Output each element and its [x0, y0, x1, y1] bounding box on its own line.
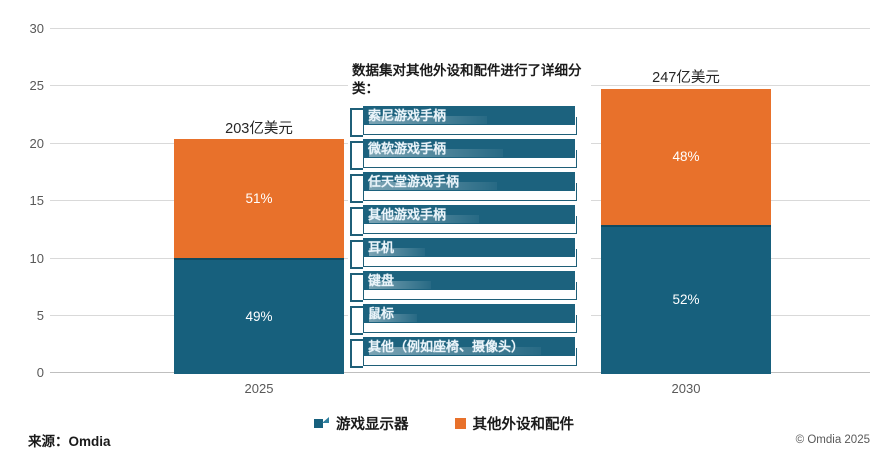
bar-segment-2030-gaming-monitor[interactable]: 52%	[601, 225, 771, 374]
bar-pct-2025-top: 51%	[174, 191, 344, 206]
list-item[interactable]: 鼠标	[350, 302, 588, 334]
legend-label: 游戏显示器	[336, 413, 409, 434]
list-item-fill: 鼠标	[363, 304, 575, 323]
y-tick-30: 30	[8, 22, 44, 35]
overlay-panel: 数据集对其他外设和配件进行了详细分类： 索尼游戏手柄 微软游戏手柄	[350, 62, 590, 368]
list-item[interactable]: 耳机	[350, 236, 588, 268]
bracket-icon	[350, 108, 363, 137]
bar-total-label-2030: 247亿美元	[586, 66, 786, 87]
bar-total-label-2025: 203亿美元	[159, 117, 359, 138]
list-item-label: 鼠标	[368, 305, 394, 322]
list-item-fill: 任天堂游戏手柄	[363, 172, 575, 191]
bracket-icon	[350, 141, 363, 170]
bar-pct-2030-top: 48%	[601, 149, 771, 164]
bar-pct-2025-bottom: 49%	[174, 309, 344, 324]
copyright-note: © Omdia 2025	[796, 434, 870, 446]
list-item-label: 任天堂游戏手柄	[368, 173, 459, 190]
list-item-fill: 微软游戏手柄	[363, 139, 575, 158]
y-tick-15: 15	[8, 194, 44, 207]
list-item-fill: 其他（例如座椅、摄像头）	[363, 337, 575, 356]
bracket-icon	[350, 306, 363, 335]
bracket-icon	[350, 240, 363, 269]
bracket-icon	[350, 339, 363, 368]
list-item-label: 微软游戏手柄	[368, 140, 446, 157]
legend-item-gaming-monitor[interactable]: 游戏显示器	[314, 413, 409, 434]
bar-pct-2030-bottom: 52%	[601, 292, 771, 307]
list-item-label: 索尼游戏手柄	[368, 107, 446, 124]
list-item-label: 耳机	[368, 239, 394, 256]
list-item[interactable]: 任天堂游戏手柄	[350, 170, 588, 202]
list-item-label: 其他（例如座椅、摄像头）	[368, 338, 524, 355]
list-item[interactable]: 微软游戏手柄	[350, 137, 588, 169]
bracket-icon	[350, 207, 363, 236]
square-icon	[455, 418, 466, 429]
bar-segment-2030-other-peripherals[interactable]: 48%	[601, 89, 771, 225]
x-tick-2025: 2025	[199, 381, 319, 396]
bracket-icon	[350, 174, 363, 203]
list-item-fill: 耳机	[363, 238, 575, 257]
square-flag-icon	[314, 417, 329, 429]
list-item-fill: 索尼游戏手柄	[363, 106, 575, 125]
chart-legend: 游戏显示器 其他外设和配件	[0, 410, 888, 436]
y-tick-20: 20	[8, 137, 44, 150]
y-tick-0: 0	[8, 366, 44, 379]
legend-item-other-peripherals[interactable]: 其他外设和配件	[455, 413, 575, 434]
gridline-30	[50, 28, 870, 29]
y-tick-5: 5	[8, 309, 44, 322]
overlay-title: 数据集对其他外设和配件进行了详细分类：	[352, 62, 588, 98]
list-item-fill: 键盘	[363, 271, 575, 290]
y-tick-25: 25	[8, 79, 44, 92]
list-item[interactable]: 键盘	[350, 269, 588, 301]
bracket-icon	[350, 273, 363, 302]
overlay-category-list: 索尼游戏手柄 微软游戏手柄 任天堂游戏手柄	[350, 104, 588, 367]
x-tick-2030: 2030	[626, 381, 746, 396]
legend-label: 其他外设和配件	[473, 413, 575, 434]
y-tick-10: 10	[8, 252, 44, 265]
list-item-label: 键盘	[368, 272, 394, 289]
list-item[interactable]: 其他（例如座椅、摄像头）	[350, 335, 588, 367]
list-item[interactable]: 索尼游戏手柄	[350, 104, 588, 136]
list-item[interactable]: 其他游戏手柄	[350, 203, 588, 235]
chart-canvas: 30 25 20 15 10 5 0 203亿美元 51% 49% 247亿美元…	[0, 0, 888, 459]
bar-segment-2025-other-peripherals[interactable]: 51%	[174, 139, 344, 258]
list-item-label: 其他游戏手柄	[368, 206, 446, 223]
list-item-fill: 其他游戏手柄	[363, 205, 575, 224]
source-note: 来源：Omdia	[28, 430, 111, 450]
bar-segment-2025-gaming-monitor[interactable]: 49%	[174, 258, 344, 374]
